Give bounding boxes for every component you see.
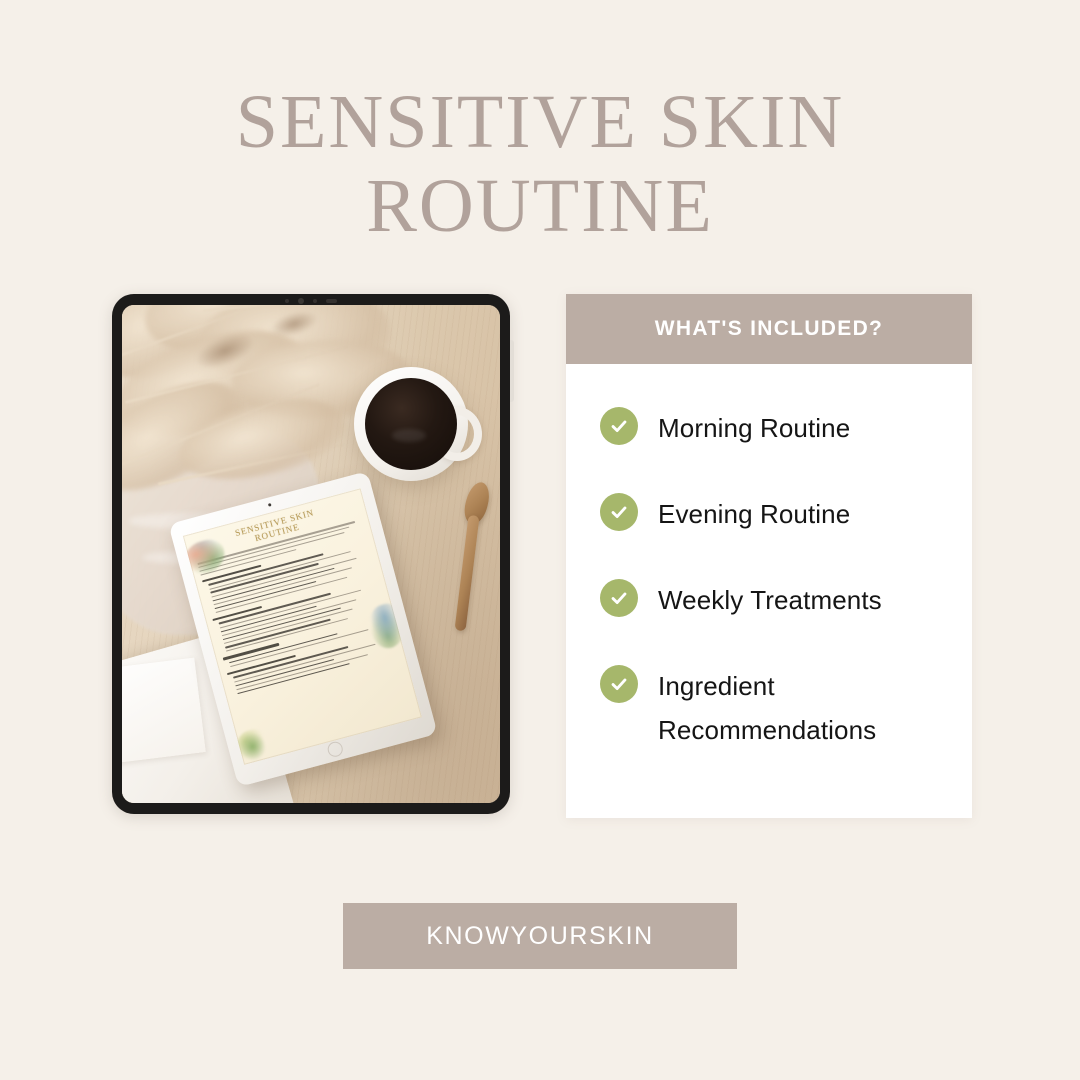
coffee-sheen (392, 429, 426, 442)
included-item-label: Morning Routine (658, 406, 850, 450)
brand-button-label: KnowYourSkin (426, 922, 654, 951)
coffee-liquid (365, 378, 457, 470)
inner-tablet-camera-icon (268, 503, 272, 507)
list-item[interactable]: Weekly Treatments (600, 578, 972, 622)
included-items-list: Morning Routine Evening Routine Weekly T… (566, 364, 972, 752)
included-item-label: Evening Routine (658, 492, 850, 536)
list-item[interactable]: Ingredient Recommendations (600, 664, 972, 752)
whats-included-card: What's Included? Morning Routine Evening… (566, 294, 972, 818)
tablet-side-button-icon (510, 340, 514, 402)
tablet-mockup: Sensitive Skin Routine (112, 294, 510, 814)
list-item[interactable]: Morning Routine (600, 406, 972, 450)
check-circle-icon (600, 665, 638, 703)
check-circle-icon (600, 407, 638, 445)
list-item[interactable]: Evening Routine (600, 492, 972, 536)
envelope-flap (122, 658, 206, 768)
brand-button[interactable]: KnowYourSkin (343, 903, 737, 969)
floral-decoration-bottom-left-icon (234, 727, 271, 764)
inner-tablet-home-button-icon (326, 740, 344, 758)
check-circle-icon (600, 579, 638, 617)
page-title-line-1: Sensitive Skin (0, 80, 1080, 164)
page-title: Sensitive Skin Routine (0, 80, 1080, 248)
coffee-cup (354, 367, 468, 481)
included-item-label: Ingredient Recommendations (658, 664, 938, 752)
tablet-screen-photo: Sensitive Skin Routine (122, 305, 500, 803)
whats-included-header: What's Included? (566, 294, 972, 364)
check-circle-icon (600, 493, 638, 531)
included-item-label: Weekly Treatments (658, 578, 882, 622)
page-title-line-2: Routine (0, 164, 1080, 248)
tablet-sensor-array-icon (285, 298, 337, 304)
whats-included-header-label: What's Included? (655, 317, 883, 341)
